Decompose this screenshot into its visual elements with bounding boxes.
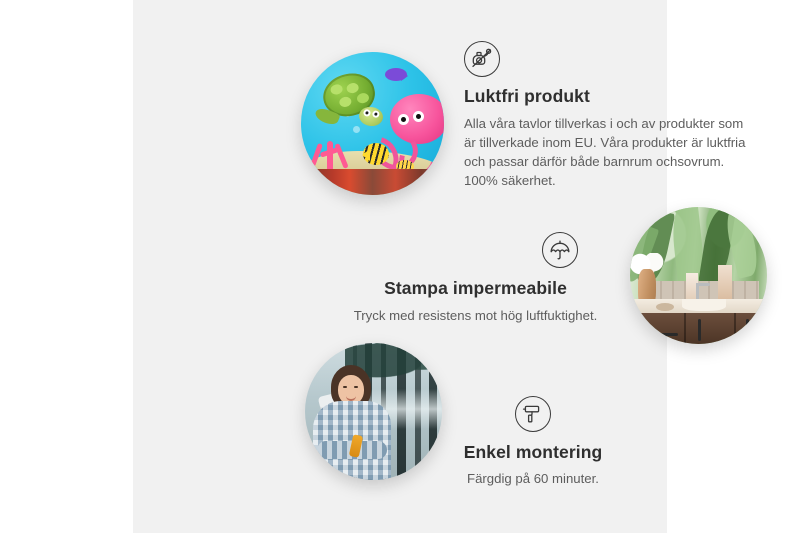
feature-body: Färgdig på 60 minuter. bbox=[433, 469, 633, 488]
infographic-panel: Luktfri produkt Alla våra tavlor tillver… bbox=[133, 0, 667, 533]
cabinet-handle bbox=[746, 319, 749, 341]
cabinet-handle bbox=[648, 333, 678, 336]
cabinet-seam bbox=[684, 313, 686, 344]
purple-fish bbox=[385, 68, 407, 81]
wooden-cabinet bbox=[638, 313, 767, 344]
feature-body: Tryck med resistens mot hög luftfuktighe… bbox=[343, 306, 608, 325]
feature-title: Luktfri produkt bbox=[464, 86, 754, 107]
toiletry-bottle bbox=[718, 265, 732, 303]
cabinet-handle bbox=[698, 319, 701, 341]
feature-body: Alla våra tavlor tillverkas i och av pro… bbox=[464, 114, 754, 190]
feature-easy-mounting: Enkel montering Färgdig på 60 minuter. bbox=[433, 396, 633, 488]
forest-painter-illustration bbox=[305, 343, 442, 480]
photo-bottom-strip bbox=[301, 169, 444, 195]
product-photo-underwater-scene bbox=[301, 52, 444, 195]
feature-title: Stampa impermeabile bbox=[343, 278, 608, 299]
umbrella-icon bbox=[542, 232, 578, 268]
underwater-illustration bbox=[301, 52, 444, 195]
cabinet-seam bbox=[734, 313, 736, 344]
soap-dish bbox=[656, 303, 674, 311]
striped-fish bbox=[363, 143, 389, 165]
bubble-icon bbox=[353, 126, 360, 133]
feature-odour-free: Luktfri produkt Alla våra tavlor tillver… bbox=[464, 41, 754, 190]
infographic-stage: Luktfri produkt Alla våra tavlor tillver… bbox=[0, 0, 800, 533]
sink-basin bbox=[682, 299, 726, 311]
product-photo-forest-mural-painter bbox=[305, 343, 442, 480]
feature-title: Enkel montering bbox=[433, 442, 633, 463]
bathroom-illustration bbox=[630, 207, 767, 344]
paint-roller-icon bbox=[515, 396, 551, 432]
product-photo-bathroom-vanity bbox=[630, 207, 767, 344]
no-fragrance-icon bbox=[464, 41, 500, 77]
feature-waterproof-print: Stampa impermeabile Tryck med resistens … bbox=[343, 232, 608, 325]
